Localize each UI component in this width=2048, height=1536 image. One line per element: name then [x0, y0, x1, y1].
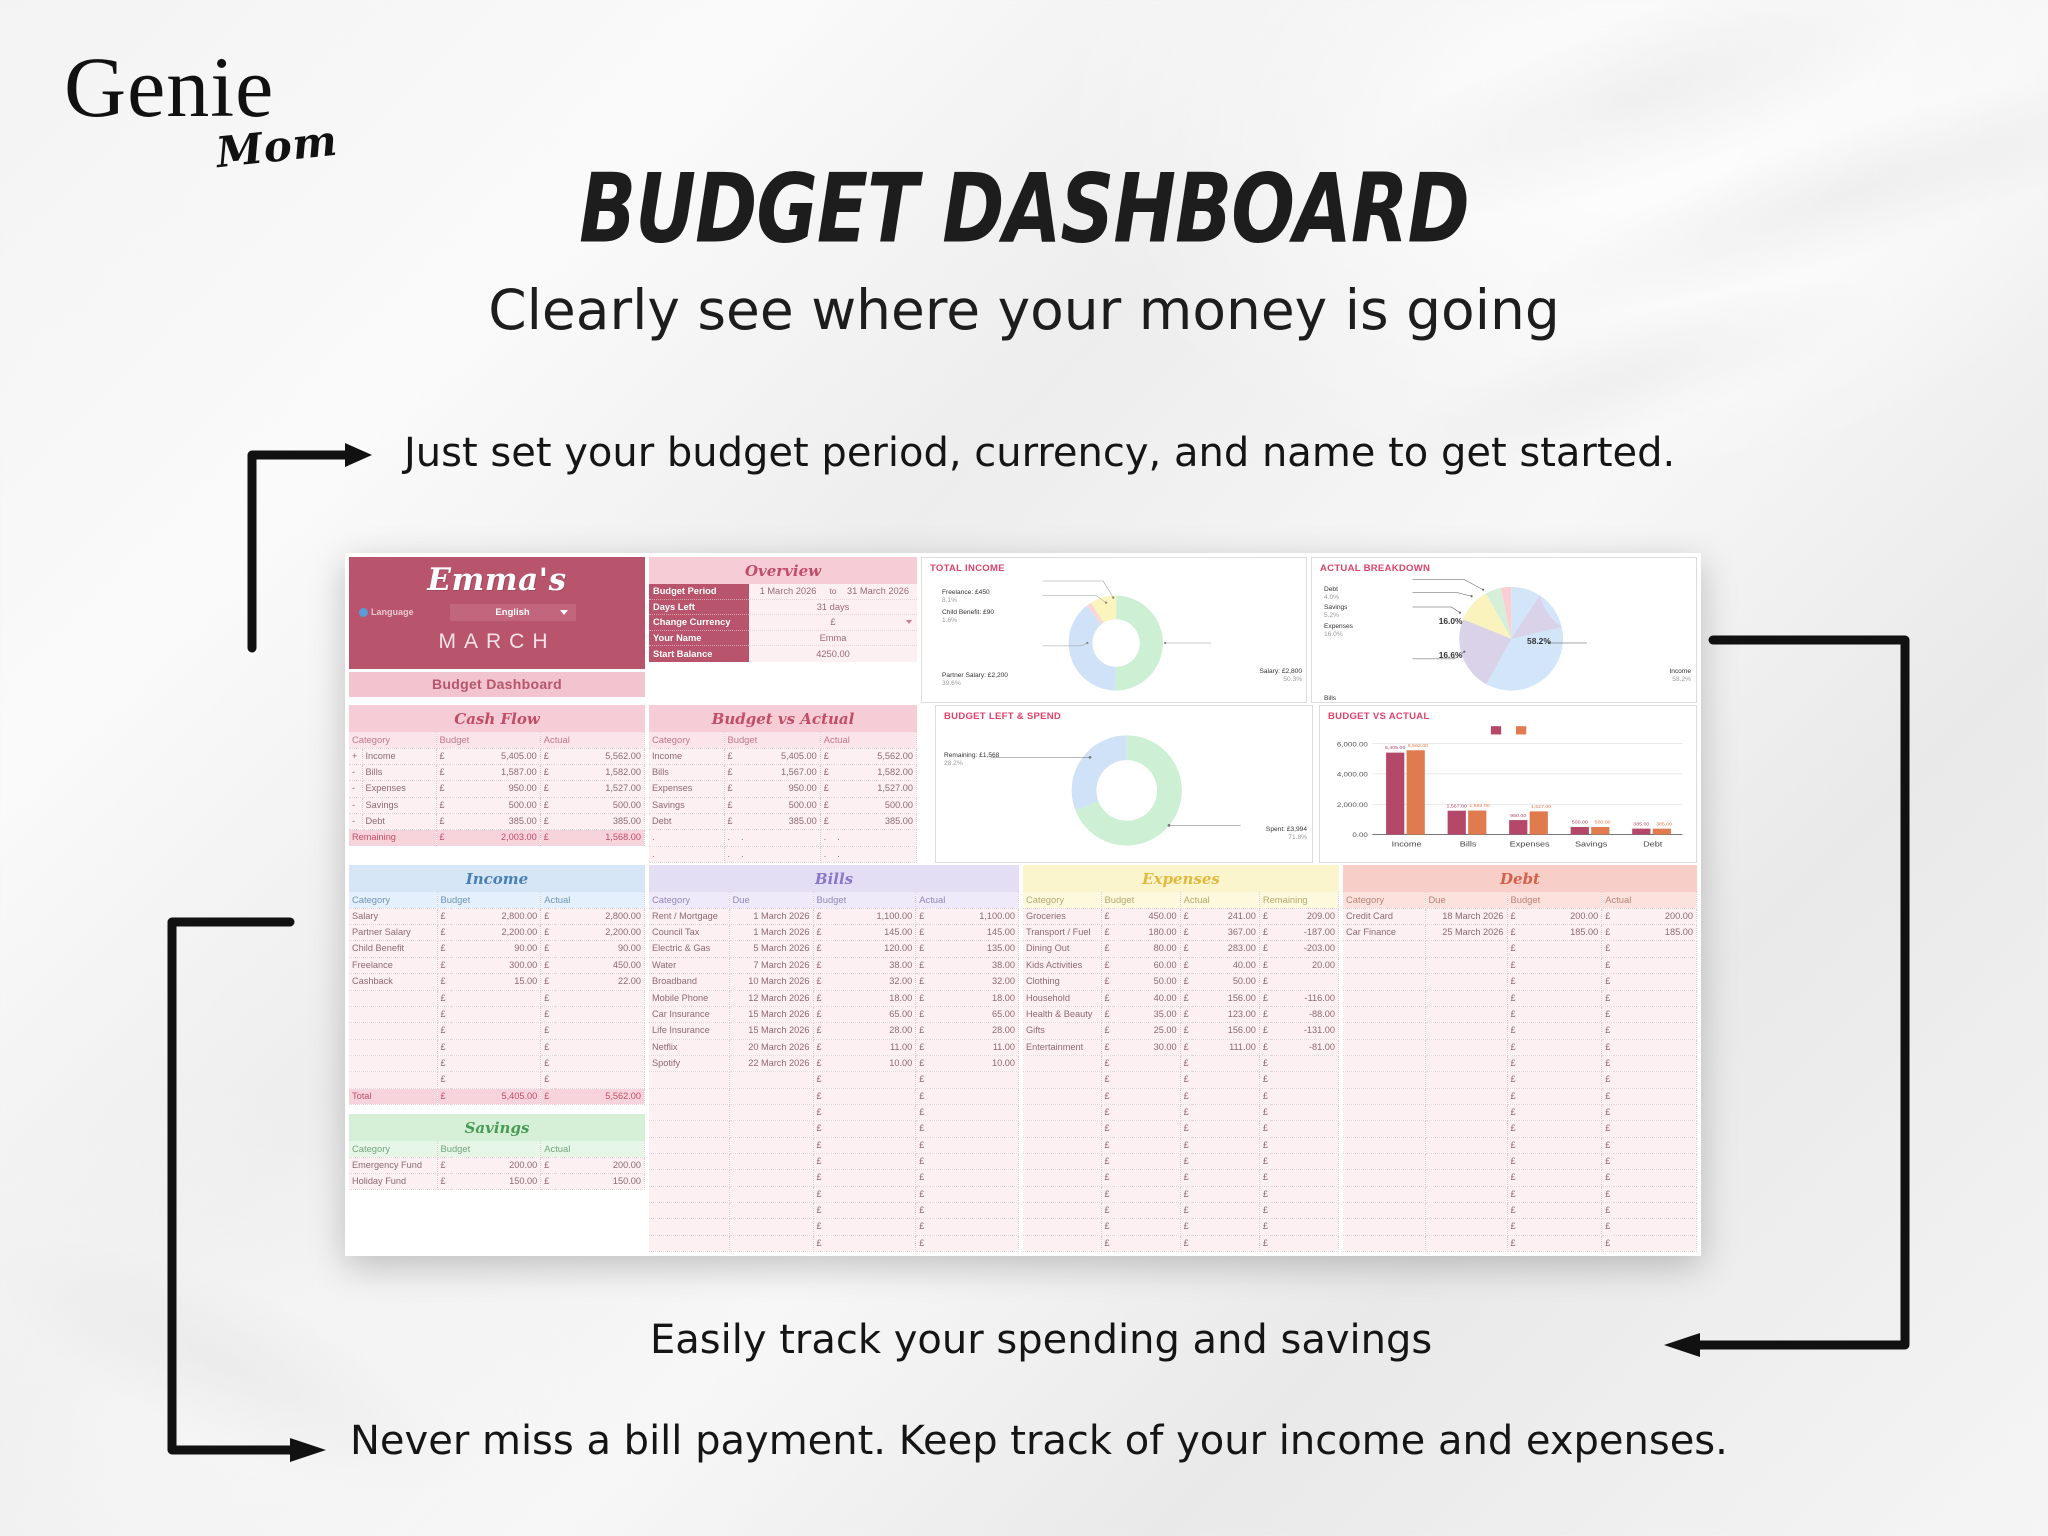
page-subtitle: Clearly see where your money is going: [0, 278, 2048, 342]
table-row: Electric & Gas5 March 2026£120.00£135.00: [649, 941, 1019, 957]
table-row: ££: [1343, 1039, 1697, 1055]
table-row: ££: [1343, 990, 1697, 1006]
table-row: .....: [649, 846, 917, 862]
svg-text:5,562.00: 5,562.00: [1408, 743, 1429, 748]
language-select[interactable]: English: [450, 604, 576, 621]
table-row: ££: [649, 1072, 1019, 1088]
debt-column: Debt Category Due Budget Actual Credit C…: [1343, 865, 1697, 1252]
budget-left-spend-donut: [936, 706, 1312, 862]
budget-vs-actual-table-card: Budget vs Actual Category Budget Actual …: [649, 705, 917, 863]
actual-breakdown-pie: [1312, 558, 1696, 702]
top-charts: TOTAL INCOME: [921, 557, 1697, 703]
inner-label-bills: 16.6%: [1439, 650, 1463, 661]
table-row: Cashback£15.00£22.00: [349, 974, 645, 990]
svg-text:Bills: Bills: [1460, 840, 1477, 848]
table-row: Partner Salary£2,200.00£2,200.00: [349, 925, 645, 941]
label-bills: Bills 16.6%: [1324, 695, 1343, 703]
savings-card: Savings Category Budget Actual Emergency…: [349, 1114, 645, 1190]
budget-left-spend-chart: BUDGET LEFT & SPEND: [935, 705, 1313, 863]
bva-title: Budget vs Actual: [649, 705, 917, 732]
table-row: £££: [1023, 1137, 1339, 1153]
table-row: Bills£1,567.00£1,582.00: [649, 765, 917, 781]
table-row: £££: [1023, 1104, 1339, 1120]
table-row: ££: [349, 1006, 645, 1022]
language-label: Language: [359, 607, 414, 617]
arrow-top-path: [252, 455, 345, 648]
table-row: ££: [349, 1072, 645, 1088]
total-income-chart: TOTAL INCOME: [921, 557, 1307, 703]
table-row: £££: [1023, 1088, 1339, 1104]
sheet-row-bottom: Income Category Budget Actual Salary£2,8…: [345, 863, 1701, 1256]
globe-icon: [359, 608, 368, 617]
svg-text:6,000.00: 6,000.00: [1337, 740, 1368, 748]
overview-row-currency[interactable]: Change Currency £: [649, 615, 917, 631]
table-row: +Income£5,405.00£5,562.00: [349, 748, 645, 764]
income-total-row: Total£5,405.00£5,562.00: [349, 1088, 645, 1104]
language-row: Language English: [359, 604, 635, 621]
table-row: Car Finance25 March 2026£185.00£185.00: [1343, 925, 1697, 941]
label-salary: Salary: £2,800 50.3%: [1259, 668, 1302, 684]
budget-vs-actual-bar-chart: BUDGET VS ACTUAL: [1319, 705, 1697, 863]
table-row: £££: [1023, 1055, 1339, 1071]
table-row: £££: [1023, 1170, 1339, 1186]
table-row: Groceries£450.00£241.00£209.00: [1023, 908, 1339, 924]
table-row: ££: [1343, 1235, 1697, 1251]
table-row: ££: [1343, 1219, 1697, 1235]
table-row: Car Insurance15 March 2026£65.00£65.00: [649, 1006, 1019, 1022]
chevron-down-icon: [906, 620, 912, 624]
svg-text:385.00: 385.00: [1633, 822, 1649, 827]
label-partner-salary: Partner Salary: £2,200 39.6%: [942, 672, 1008, 688]
table-row: Spotify22 March 2026£10.00£10.00: [649, 1055, 1019, 1071]
income-card: Income Category Budget Actual Salary£2,8…: [349, 865, 645, 1105]
svg-text:Savings: Savings: [1575, 840, 1607, 848]
bills-title: Bills: [649, 865, 1019, 892]
table-row: ££: [649, 1153, 1019, 1169]
inner-label-income: 58.2%: [1527, 636, 1551, 647]
label-income: Income 58.2%: [1669, 668, 1691, 684]
namecard-column: Emma's Language English MARCH Budget Das…: [349, 557, 645, 703]
bills-table[interactable]: Category Due Budget Actual Rent / Mortga…: [649, 892, 1019, 1252]
table-row: Entertainment£30.00£111.00£-81.00: [1023, 1039, 1339, 1055]
table-row: ££: [649, 1202, 1019, 1218]
table-row: Gifts£25.00£156.00£-131.00: [1023, 1023, 1339, 1039]
budget-period-from: 1 March 2026: [753, 586, 823, 596]
spreadsheet-screenshot[interactable]: Emma's Language English MARCH Budget Das…: [345, 553, 1701, 1256]
overview-row-your-name[interactable]: Your Name Emma: [649, 631, 917, 647]
label-debt: Debt 4.0%: [1324, 586, 1339, 602]
table-header-row: Category Due Budget Actual: [649, 892, 1019, 908]
income-title: Income: [349, 865, 645, 892]
table-row: ££: [1343, 1055, 1697, 1071]
table-row: Dining Out£80.00£283.00£-203.00: [1023, 941, 1339, 957]
actual-breakdown-chart: ACTUAL BREAKDOWN: [1311, 557, 1697, 703]
table-row: Health & Beauty£35.00£123.00£-88.00: [1023, 1006, 1339, 1022]
language-value: English: [495, 607, 529, 618]
svg-text:1,582.00: 1,582.00: [1469, 804, 1490, 809]
bar-chart-svg: 0.00 2,000.00 4,000.00 6,000.00: [1320, 706, 1696, 862]
table-row: Debt£385.00£385.00: [649, 814, 917, 830]
expenses-card: Expenses Category Budget Actual Remainin…: [1023, 865, 1339, 1252]
bills-card: Bills Category Due Budget Actual Rent / …: [649, 865, 1019, 1252]
expenses-column: Expenses Category Budget Actual Remainin…: [1023, 865, 1339, 1252]
income-savings-column: Income Category Budget Actual Salary£2,8…: [349, 865, 645, 1252]
expenses-title: Expenses: [1023, 865, 1339, 892]
table-row: ££: [1343, 1088, 1697, 1104]
arrow-right-path: [1700, 640, 1905, 1345]
overview-title: Overview: [649, 557, 917, 584]
table-row: ££: [1343, 1072, 1697, 1088]
table-row: £££: [1023, 1121, 1339, 1137]
cashflow-column: Cash Flow Category Budget Actual +Income…: [349, 705, 645, 863]
table-row: £££: [1023, 1219, 1339, 1235]
svg-text:Income: Income: [1392, 840, 1422, 848]
overview-card: Overview Budget Period 1 March 2026 to 3…: [649, 557, 917, 662]
table-row: ££: [649, 1170, 1019, 1186]
cashflow-card: Cash Flow Category Budget Actual +Income…: [349, 705, 645, 846]
arrow-head-mid: [1664, 1333, 1700, 1357]
arrow-left-path: [172, 922, 290, 1450]
table-row: ££: [1343, 1186, 1697, 1202]
table-row: ££: [1343, 957, 1697, 973]
currency-value: £: [830, 617, 835, 627]
table-row: ££: [349, 1023, 645, 1039]
debt-table[interactable]: Category Due Budget Actual Credit Card18…: [1343, 892, 1697, 1252]
sheet-row-top: Emma's Language English MARCH Budget Das…: [345, 553, 1701, 703]
table-row: £££: [1023, 1072, 1339, 1088]
overview-rows: Budget Period 1 March 2026 to 31 March 2…: [649, 584, 917, 662]
label-freelance: Freelance: £450 8.1%: [942, 589, 990, 605]
table-row: Child Benefit£90.00£90.00: [349, 941, 645, 957]
table-row: Income£5,405.00£5,562.00: [649, 748, 917, 764]
table-row: ££: [649, 1137, 1019, 1153]
table-row: ££: [1343, 1121, 1697, 1137]
bills-column: Bills Category Due Budget Actual Rent / …: [649, 865, 1019, 1252]
table-row: ££: [1343, 1023, 1697, 1039]
table-row: ££: [1343, 1202, 1697, 1218]
svg-text:Expenses: Expenses: [1510, 840, 1550, 848]
table-row: £££: [1023, 1153, 1339, 1169]
table-row: Holiday Fund£150.00£150.00: [349, 1173, 645, 1189]
overview-row-days-left: Days Left 31 days: [649, 600, 917, 616]
table-row: -Bills£1,587.00£1,582.00: [349, 765, 645, 781]
table-row: ££: [1343, 941, 1697, 957]
inner-label-expenses: 16.0%: [1439, 616, 1463, 627]
table-row: ££: [1343, 1170, 1697, 1186]
mid-charts: BUDGET LEFT & SPEND: [921, 705, 1697, 863]
table-row: Transport / Fuel£180.00£367.00£-187.00: [1023, 925, 1339, 941]
table-row: Netflix20 March 2026£11.00£11.00: [649, 1039, 1019, 1055]
brand-logo: Genie Mom: [64, 44, 364, 169]
table-row: £££: [1023, 1235, 1339, 1251]
table-row: Clothing£50.00£50.00£: [1023, 974, 1339, 990]
budget-vs-actual-table[interactable]: Category Budget Actual Income£5,405.00£5…: [649, 732, 917, 863]
sheet-row-middle: Cash Flow Category Budget Actual +Income…: [345, 703, 1701, 863]
arrow-head-bottom: [290, 1438, 326, 1462]
table-header-row: Category Budget Actual Remaining: [1023, 892, 1339, 908]
table-row: Rent / Mortgage1 March 2026£1,100.00£1,1…: [649, 908, 1019, 924]
label-expenses: Expenses 16.0%: [1324, 623, 1353, 639]
overview-row-budget-period[interactable]: Budget Period 1 March 2026 to 31 March 2…: [649, 584, 917, 600]
label-savings: Savings 5.2%: [1324, 604, 1347, 620]
table-row: Household£40.00£156.00£-116.00: [1023, 990, 1339, 1006]
page-title: BUDGET DASHBOARD: [41, 155, 2007, 265]
table-row: ££: [649, 1121, 1019, 1137]
start-balance-value: 4250.00: [749, 646, 917, 662]
table-header-row: Category Budget Actual: [349, 732, 645, 748]
table-row: ££: [649, 1235, 1019, 1251]
budget-period-until: 31 March 2026: [843, 586, 913, 596]
callout-middle: Easily track your spending and savings: [650, 1317, 1432, 1363]
table-row: -Debt£385.00£385.00: [349, 814, 645, 830]
svg-text:5,405.00: 5,405.00: [1385, 746, 1406, 751]
table-row: Savings£500.00£500.00: [649, 797, 917, 813]
days-left-value: 31 days: [749, 600, 917, 616]
dashboard-subtitle: Budget Dashboard: [349, 672, 645, 697]
table-row: Council Tax1 March 2026£145.00£145.00: [649, 925, 1019, 941]
expenses-table[interactable]: Category Budget Actual Remaining Groceri…: [1023, 892, 1339, 1252]
budget-period-to-word: to: [825, 586, 841, 596]
debt-title: Debt: [1343, 865, 1697, 892]
owner-name: Emma's: [359, 564, 635, 597]
label-spent: Spent: £3,994 71.8%: [1266, 826, 1307, 842]
table-row: ££: [649, 1088, 1019, 1104]
table-row: Salary£2,800.00£2,800.00: [349, 908, 645, 924]
svg-text:500.00: 500.00: [1595, 820, 1611, 825]
table-row: ££: [649, 1104, 1019, 1120]
svg-text:1,527.00: 1,527.00: [1531, 805, 1552, 810]
table-row: ££: [349, 990, 645, 1006]
svg-text:2,000.00: 2,000.00: [1337, 801, 1368, 809]
table-row: Freelance£300.00£450.00: [349, 957, 645, 973]
label-child-benefit: Child Benefit: £90 1.6%: [942, 609, 994, 625]
table-row: ££: [1343, 1137, 1697, 1153]
table-header-row: Category Budget Actual: [649, 732, 917, 748]
svg-text:4,000.00: 4,000.00: [1337, 771, 1368, 779]
table-row: Emergency Fund£200.00£200.00: [349, 1157, 645, 1173]
arrow-head-top: [345, 443, 372, 467]
table-row: .....: [649, 830, 917, 846]
table-header-row: Category Budget Actual: [349, 1141, 645, 1157]
overview-row-start-balance[interactable]: Start Balance 4250.00: [649, 646, 917, 662]
table-row: Water7 March 2026£38.00£38.00: [649, 957, 1019, 973]
cashflow-title: Cash Flow: [349, 705, 645, 732]
month-label: MARCH: [359, 630, 635, 654]
cashflow-table[interactable]: Category Budget Actual +Income£5,405.00£…: [349, 732, 645, 846]
table-row: ££: [1343, 974, 1697, 990]
table-header-row: Category Budget Actual: [349, 892, 645, 908]
table-row: -Savings£500.00£500.00: [349, 797, 645, 813]
table-header-row: Category Due Budget Actual: [1343, 892, 1697, 908]
svg-text:Debt: Debt: [1643, 840, 1663, 848]
svg-text:385.00: 385.00: [1656, 822, 1672, 827]
table-row: ££: [1343, 1104, 1697, 1120]
table-row: £££: [1023, 1202, 1339, 1218]
label-remaining: Remaining: £1,568 28.2%: [944, 752, 999, 768]
svg-text:0.00: 0.00: [1352, 831, 1368, 839]
income-table[interactable]: Category Budget Actual Salary£2,800.00£2…: [349, 892, 645, 1105]
table-row: ££: [1343, 1153, 1697, 1169]
savings-table[interactable]: Category Budget Actual Emergency Fund£20…: [349, 1141, 645, 1190]
table-row: Expenses£950.00£1,527.00: [649, 781, 917, 797]
table-row: Mobile Phone12 March 2026£18.00£18.00: [649, 990, 1019, 1006]
callout-bottom: Never miss a bill payment. Keep track of…: [350, 1418, 1728, 1464]
svg-text:1,567.00: 1,567.00: [1447, 804, 1468, 809]
svg-text:950.00: 950.00: [1510, 813, 1526, 818]
table-row: ££: [349, 1055, 645, 1071]
svg-text:500.00: 500.00: [1572, 820, 1588, 825]
table-row: Broadband10 March 2026£32.00£32.00: [649, 974, 1019, 990]
debt-card: Debt Category Due Budget Actual Credit C…: [1343, 865, 1697, 1252]
table-row: Life Insurance15 March 2026£28.00£28.00: [649, 1023, 1019, 1039]
savings-title: Savings: [349, 1114, 645, 1141]
overview-column: Overview Budget Period 1 March 2026 to 3…: [649, 557, 917, 703]
table-row: ££: [649, 1219, 1019, 1235]
bva-table-column: Budget vs Actual Category Budget Actual …: [649, 705, 917, 863]
table-row: ££: [1343, 1006, 1697, 1022]
table-row: £££: [1023, 1186, 1339, 1202]
callout-top: Just set your budget period, currency, a…: [404, 430, 1675, 476]
cashflow-total-row: Remaining£2,003.00£1,568.00: [349, 830, 645, 846]
namecard: Emma's Language English MARCH: [349, 557, 645, 669]
table-row: Credit Card18 March 2026£200.00£200.00: [1343, 908, 1697, 924]
table-row: ££: [349, 1039, 645, 1055]
table-row: Kids Activities£60.00£40.00£20.00: [1023, 957, 1339, 973]
table-row: ££: [649, 1186, 1019, 1202]
table-row: -Expenses£950.00£1,527.00: [349, 781, 645, 797]
your-name-value: Emma: [749, 631, 917, 647]
